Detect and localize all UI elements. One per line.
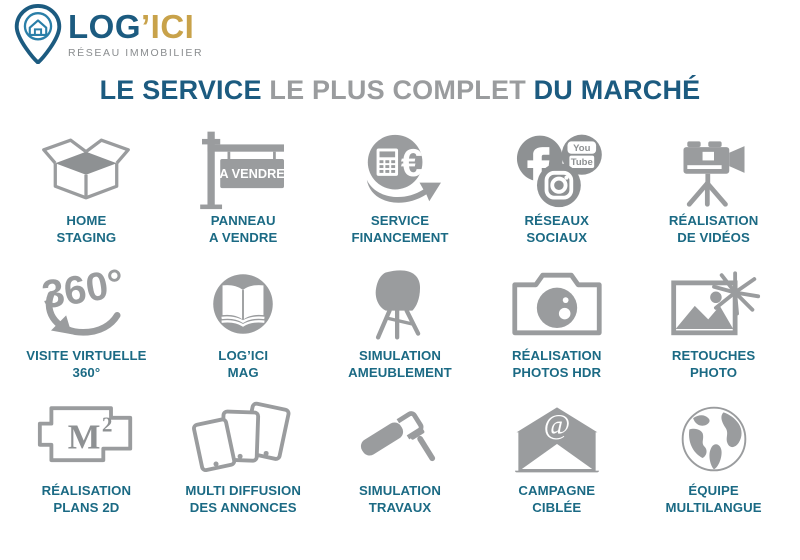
globe-icon: [635, 398, 792, 480]
service-label: RÉSEAUX SOCIAUX: [525, 213, 589, 246]
service-label: RÉALISATION PLANS 2D: [42, 483, 132, 516]
logo-wordmark-group: LOG’ICI RÉSEAU IMMOBILIER: [68, 10, 203, 59]
service-label: RÉALISATION PHOTOS HDR: [512, 348, 602, 381]
euro-calculator-arrow-icon: €: [322, 128, 479, 210]
service-label: RÉALISATION DE VIDÉOS: [669, 213, 759, 246]
service-label: LOG’ICI MAG: [218, 348, 268, 381]
paint-roller-icon: [322, 398, 479, 480]
service-item-visite-virtuelle[interactable]: 360° VISITE VIRTUELLE 360°: [8, 263, 165, 398]
logo-word-log: LOG: [68, 8, 141, 45]
service-item-retouches-photo[interactable]: RETOUCHES PHOTO: [635, 263, 792, 398]
360-degrees-arrow-icon: 360°: [8, 263, 165, 345]
instagram-icon: [537, 163, 581, 207]
service-item-realisation-videos[interactable]: RÉALISATION DE VIDÉOS: [635, 128, 792, 263]
service-label: MULTI DIFFUSION DES ANNONCES: [185, 483, 301, 516]
svg-text:€: €: [401, 142, 423, 185]
svg-text:@: @: [544, 409, 571, 441]
service-label: SIMULATION TRAVAUX: [359, 483, 441, 516]
social-networks-icon: You Tube: [478, 128, 635, 210]
svg-text:Tube: Tube: [571, 157, 593, 168]
service-item-logici-mag[interactable]: LOG’ICI MAG: [165, 263, 322, 398]
for-sale-sign-icon: A VENDRE: [165, 128, 322, 210]
sign-text: A VENDRE: [220, 166, 285, 181]
logo-tagline: RÉSEAU IMMOBILIER: [68, 47, 203, 59]
service-label: RETOUCHES PHOTO: [672, 348, 755, 381]
service-item-service-financement[interactable]: € SERVICE FINANCEMENT: [322, 128, 479, 263]
brand-logo: LOG’ICI RÉSEAU IMMOBILIER: [12, 4, 203, 64]
service-label: VISITE VIRTUELLE 360°: [26, 348, 146, 381]
logo-wordmark: LOG’ICI: [68, 8, 194, 45]
service-label: ÉQUIPE MULTILANGUE: [666, 483, 762, 516]
map-pin-house-icon: [12, 4, 64, 64]
service-item-photos-hdr[interactable]: RÉALISATION PHOTOS HDR: [478, 263, 635, 398]
service-item-home-staging[interactable]: HOME STAGING: [8, 128, 165, 263]
service-item-reseaux-sociaux[interactable]: You Tube RÉSEAUX SOCIAUX: [478, 128, 635, 263]
image-sparkle-icon: [635, 263, 792, 345]
svg-text:2: 2: [102, 412, 113, 436]
service-item-multi-diffusion[interactable]: MULTI DIFFUSION DES ANNONCES: [165, 398, 322, 533]
service-item-panneau-a-vendre[interactable]: A VENDRE PANNEAU A VENDRE: [165, 128, 322, 263]
service-item-equipe-multilangue[interactable]: ÉQUIPE MULTILANGUE: [635, 398, 792, 533]
logo-word-ici: ’ICI: [141, 8, 194, 45]
page-title: LE SERVICE LE PLUS COMPLET DU MARCHÉ: [0, 75, 800, 106]
service-item-campagne-ciblee[interactable]: @ CAMPAGNE CIBLÉE: [478, 398, 635, 533]
floor-plan-m2-icon: M 2: [8, 398, 165, 480]
video-camera-tripod-icon: [635, 128, 792, 210]
services-grid: HOME STAGING A VENDRE PANNEAU A VENDRE: [8, 128, 792, 533]
service-item-simulation-ameublement[interactable]: SIMULATION AMEUBLEMENT: [322, 263, 479, 398]
open-box-icon: [8, 128, 165, 210]
envelope-at-icon: @: [478, 398, 635, 480]
service-item-plans-2d[interactable]: M 2 RÉALISATION PLANS 2D: [8, 398, 165, 533]
service-label: SIMULATION AMEUBLEMENT: [348, 348, 452, 381]
open-book-circle-icon: [165, 263, 322, 345]
three-tablets-icon: [165, 398, 322, 480]
title-part-1: LE SERVICE: [100, 75, 262, 105]
title-part-2: LE PLUS COMPLET: [269, 75, 526, 105]
service-label: PANNEAU A VENDRE: [209, 213, 277, 246]
design-chair-icon: [322, 263, 479, 345]
service-label: CAMPAGNE CIBLÉE: [518, 483, 595, 516]
title-part-3: DU MARCHÉ: [534, 75, 701, 105]
svg-text:You: You: [573, 143, 590, 154]
service-label: HOME STAGING: [56, 213, 116, 246]
service-item-simulation-travaux[interactable]: SIMULATION TRAVAUX: [322, 398, 479, 533]
service-label: SERVICE FINANCEMENT: [351, 213, 448, 246]
photo-camera-icon: [478, 263, 635, 345]
svg-text:M: M: [68, 419, 101, 457]
